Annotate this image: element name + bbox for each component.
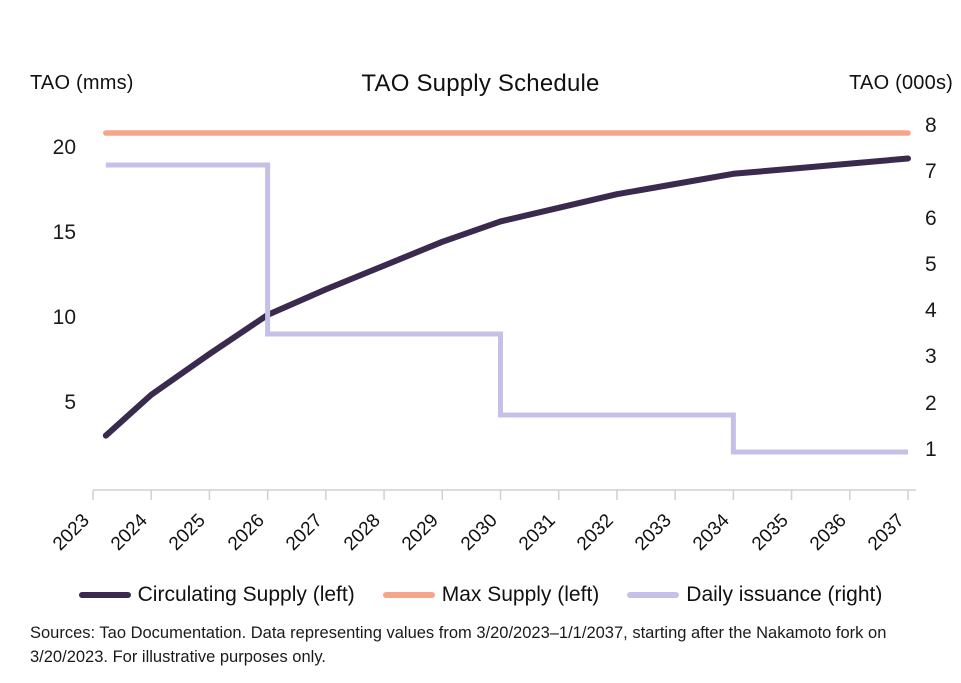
legend-swatch-icon [79, 592, 131, 598]
series-layer [106, 133, 908, 452]
series-line-circulating-supply-left [106, 159, 908, 436]
legend-label: Daily issuance (right) [686, 583, 882, 607]
source-note: Sources: Tao Documentation. Data represe… [30, 622, 933, 670]
legend-swatch-icon [383, 592, 435, 598]
legend-label: Circulating Supply (left) [138, 583, 355, 607]
series-line-daily-issuance-right [106, 165, 908, 452]
legend-item-circulating-supply-left[interactable]: Circulating Supply (left) [79, 583, 355, 607]
legend-swatch-icon [627, 592, 679, 598]
chart-container: TAO (mms) TAO (000s) TAO Supply Schedule… [0, 0, 961, 683]
chart-legend: Circulating Supply (left)Max Supply (lef… [0, 583, 961, 607]
x-axis-tickmarks [93, 490, 908, 500]
legend-item-max-supply-left[interactable]: Max Supply (left) [383, 583, 600, 607]
plot-area [0, 0, 961, 683]
legend-label: Max Supply (left) [442, 583, 600, 607]
legend-item-daily-issuance-right[interactable]: Daily issuance (right) [627, 583, 882, 607]
